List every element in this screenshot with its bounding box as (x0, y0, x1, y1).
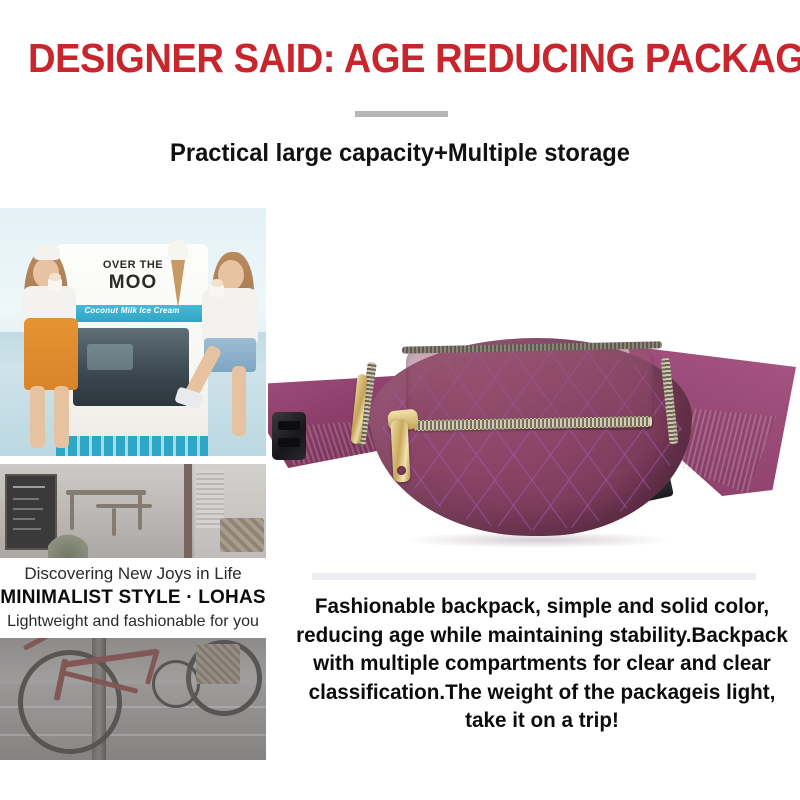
chalk-line (13, 518, 35, 520)
woman-left (8, 244, 94, 456)
side-release-buckle (272, 412, 306, 460)
cafe-post (184, 464, 192, 558)
product-marketing-page: DESIGNER SAID: AGE REDUCING PACKAGE SHAP… (0, 0, 800, 800)
wicker-basket (196, 644, 240, 684)
description-divider (312, 573, 756, 580)
van-logo-line2: MOO (90, 273, 176, 292)
ice-cream-cup-right (210, 284, 224, 297)
photo-bicycle (0, 638, 266, 760)
van-logo-line1: OVER THE (90, 260, 176, 271)
bicycle-rear-fender (23, 638, 52, 651)
dress-left (24, 318, 78, 390)
van-logo: OVER THE MOO (90, 260, 176, 292)
lifestyle-collage: OVER THE MOO Coconut Milk Ice Cream (0, 208, 266, 760)
product-image (266, 300, 800, 562)
cafe-table-top (66, 490, 146, 495)
collage-caption: Discovering New Joys in Life MINIMALIST … (0, 558, 266, 638)
chalk-line (13, 508, 43, 510)
caption-line-2: MINIMALIST STYLE · LOHAS (0, 586, 266, 611)
waist-bag (266, 300, 800, 562)
cafe-bench-leg (112, 508, 116, 536)
product-shadow (406, 532, 670, 548)
woman-right (172, 248, 264, 456)
headline-divider (355, 111, 448, 117)
page-headline: DESIGNER SAID: AGE REDUCING PACKAGE SHAP… (28, 38, 772, 79)
zipper-pull-front (390, 420, 410, 483)
bicycle-wheel-detail (152, 660, 200, 708)
potted-plant (48, 532, 88, 558)
ice-cream-cup-left (48, 278, 62, 291)
page-subtitle: Practical large capacity+Multiple storag… (20, 140, 780, 168)
chalk-line (13, 528, 41, 530)
photo-cafe-scene (0, 464, 266, 558)
caption-line-3: Lightweight and fashionable for you (7, 611, 259, 633)
cafe-table-leg (70, 494, 74, 530)
firewood-stack (220, 518, 264, 552)
chalk-line (13, 486, 45, 488)
headband-left (34, 244, 60, 260)
product-description: Fashionable backpack, simple and solid c… (294, 592, 789, 735)
photo-ice-cream-truck: OVER THE MOO Coconut Milk Ice Cream (0, 208, 266, 456)
chalk-line (13, 498, 39, 500)
caption-line-1: Discovering New Joys in Life (24, 563, 241, 586)
leg-right-b (232, 366, 246, 436)
leg-left-a (30, 386, 45, 448)
cafe-bench (96, 504, 152, 508)
leg-left-b (54, 386, 69, 448)
cafe-table-leg (138, 494, 142, 530)
